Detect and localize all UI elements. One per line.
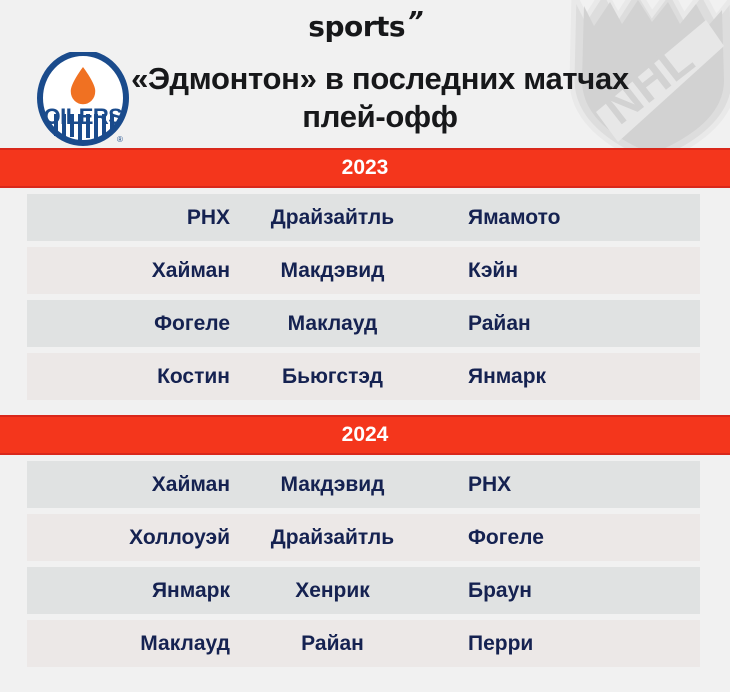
- brand-quote-mark: ”: [403, 9, 425, 35]
- page-title: «Эдмонтон» в последних матчах плей-офф: [130, 60, 630, 136]
- cell-player-2: Маклауд: [230, 312, 435, 336]
- svg-text:®: ®: [117, 135, 123, 144]
- cell-player-1: Фогеле: [27, 312, 230, 336]
- cell-player-1: Холлоуэй: [27, 526, 230, 550]
- cell-player-2: Макдэвид: [230, 259, 435, 283]
- season-table-2024: Хайман Макдэвид РНХ Холлоуэй Драйзайтль …: [0, 455, 730, 677]
- cell-player-2: Макдэвид: [230, 473, 435, 497]
- oilers-wordmark: OILERS: [44, 104, 123, 129]
- table-row: Янмарк Хенрик Браун: [27, 567, 700, 614]
- season-year-label: 2023: [342, 156, 389, 180]
- header: sports” O: [0, 0, 730, 148]
- table-row: Хайман Макдэвид РНХ: [27, 461, 700, 508]
- cell-player-3: Янмарк: [435, 365, 700, 389]
- cell-player-1: Хайман: [27, 473, 230, 497]
- cell-player-3: Кэйн: [435, 259, 700, 283]
- cell-player-3: РНХ: [435, 473, 700, 497]
- table-row: Фогеле Маклауд Райан: [27, 300, 700, 347]
- infographic-root: NHL sports”: [0, 0, 730, 692]
- cell-player-2: Драйзайтль: [230, 206, 435, 230]
- cell-player-3: Перри: [435, 632, 700, 656]
- cell-player-2: Хенрик: [230, 579, 435, 603]
- season-table-2023: РНХ Драйзайтль Ямамото Хайман Макдэвид К…: [0, 188, 730, 410]
- season-band-2024: 2024: [0, 415, 730, 455]
- sports-brand-logo: sports”: [0, 10, 730, 43]
- cell-player-1: Костин: [27, 365, 230, 389]
- cell-player-3: Браун: [435, 579, 700, 603]
- cell-player-2: Драйзайтль: [230, 526, 435, 550]
- cell-player-3: Райан: [435, 312, 700, 336]
- table-row: Холлоуэй Драйзайтль Фогеле: [27, 514, 700, 561]
- cell-player-3: Ямамото: [435, 206, 700, 230]
- table-row: Маклауд Райан Перри: [27, 620, 700, 667]
- cell-player-2: Райан: [230, 632, 435, 656]
- table-row: РНХ Драйзайтль Ямамото: [27, 194, 700, 241]
- edmonton-oilers-logo-icon: OILERS ®: [36, 52, 130, 148]
- cell-player-1: Хайман: [27, 259, 230, 283]
- table-row: Хайман Макдэвид Кэйн: [27, 247, 700, 294]
- season-year-label: 2024: [342, 423, 389, 447]
- season-band-2023: 2023: [0, 148, 730, 188]
- cell-player-1: РНХ: [27, 206, 230, 230]
- cell-player-3: Фогеле: [435, 526, 700, 550]
- table-row: Костин Бьюгстэд Янмарк: [27, 353, 700, 400]
- cell-player-1: Янмарк: [27, 579, 230, 603]
- cell-player-1: Маклауд: [27, 632, 230, 656]
- brand-name: sports: [308, 10, 405, 43]
- cell-player-2: Бьюгстэд: [230, 365, 435, 389]
